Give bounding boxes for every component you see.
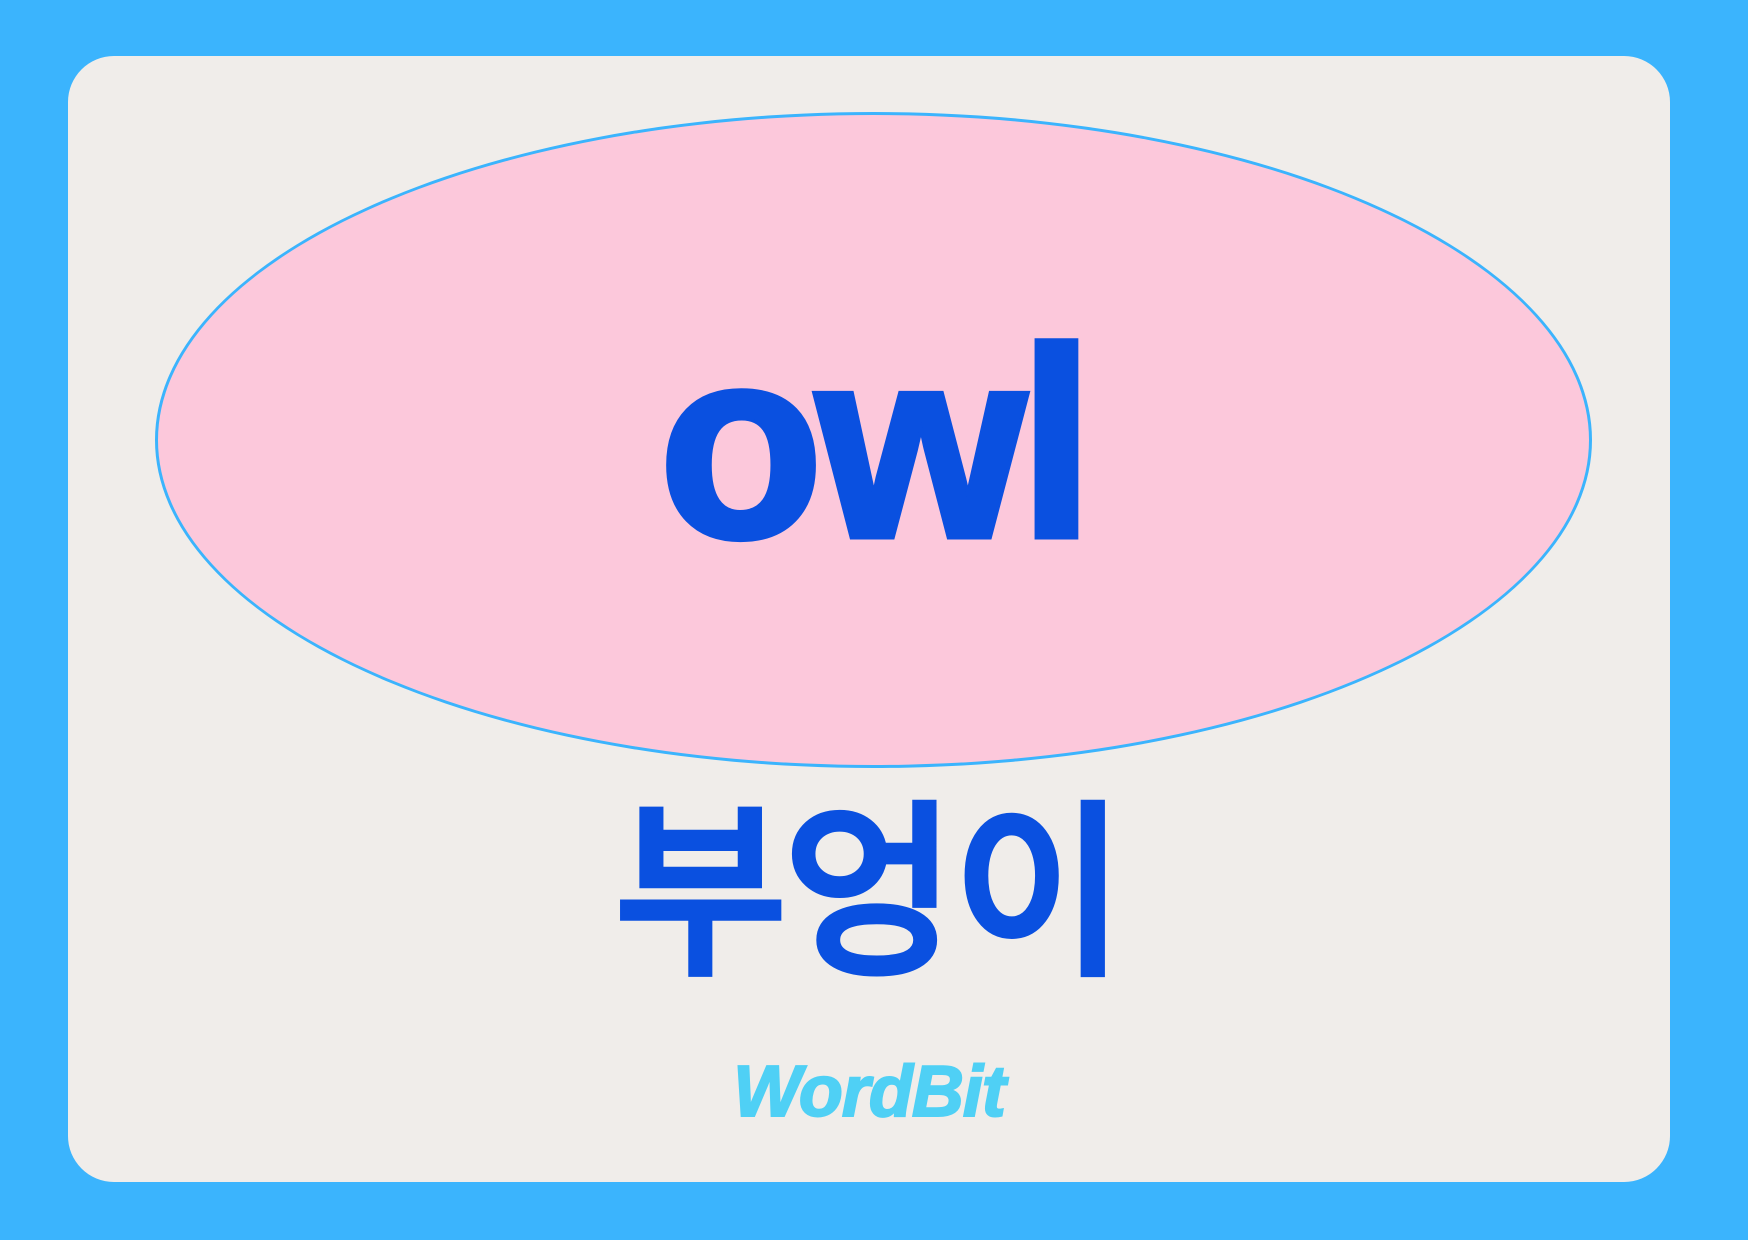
flashcard-screen: owl 부엉이 WordBit — [0, 0, 1748, 1240]
translation-text: 부엉이 — [68, 796, 1670, 993]
brand-wordmark: WordBit — [68, 1056, 1670, 1128]
term-text: owl — [659, 309, 1088, 577]
flashcard-card[interactable]: owl 부엉이 WordBit — [68, 56, 1670, 1182]
word-ellipse-illustration: owl — [155, 112, 1592, 768]
